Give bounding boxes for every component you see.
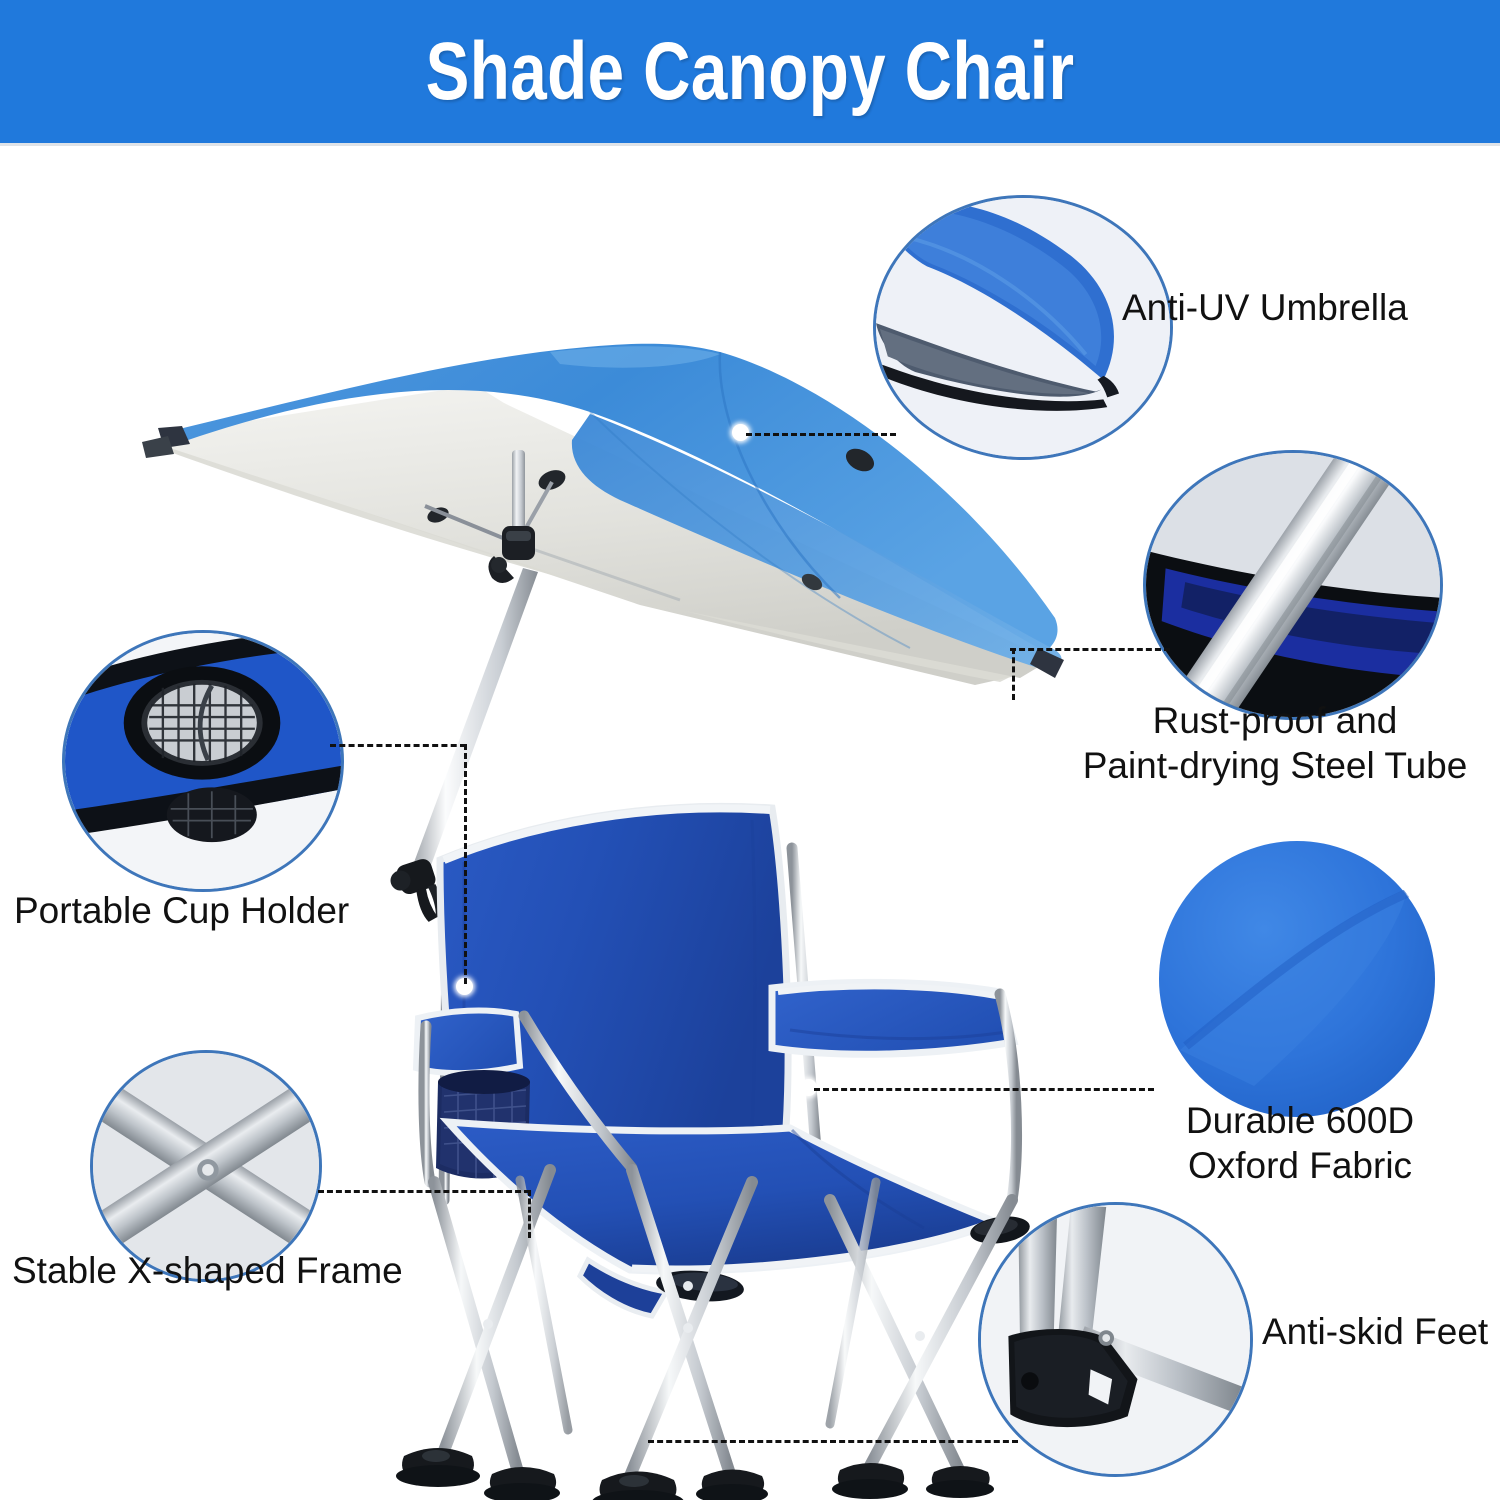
callout-photo-oxford-fabric <box>1158 840 1436 1118</box>
connector-anti-uv <box>746 433 896 436</box>
connector-cup-holder-v <box>464 744 467 984</box>
infographic-page: Shade Canopy Chair <box>0 0 1500 1500</box>
connector-steel-tube-h <box>1010 648 1170 651</box>
callout-photo-cup-holder <box>62 630 344 892</box>
connector-anti-skid-feet <box>648 1440 1018 1443</box>
left-armrest <box>416 1011 520 1074</box>
anti-skid-foot-closeup-photo <box>981 1205 1250 1474</box>
mesh-cup-holder-closeup-photo <box>65 633 341 889</box>
connector-x-frame-v <box>528 1190 531 1238</box>
connector-steel-tube-v <box>1012 648 1015 700</box>
page-title: Shade Canopy Chair <box>150 0 1350 143</box>
steel-tube-closeup-photo <box>1146 453 1440 717</box>
callout-label-anti-skid-feet: Anti-skid Feet <box>1262 1309 1500 1354</box>
anti-skid-feet <box>396 1448 994 1500</box>
connector-x-frame-h <box>318 1190 530 1193</box>
connector-cup-holder-h <box>330 744 466 747</box>
blue-oxford-fabric-swatch-photo <box>1158 840 1436 1118</box>
callout-label-steel-tube: Rust-proof andPaint-drying Steel Tube <box>1050 698 1500 788</box>
x-frame-crossbar-closeup-photo <box>93 1053 319 1279</box>
banner-divider <box>0 143 1500 146</box>
callout-photo-steel-tube <box>1143 450 1443 720</box>
callout-label-oxford-fabric: Durable 600DOxford Fabric <box>1100 1098 1500 1188</box>
folding-chair <box>400 730 1060 1500</box>
callout-label-anti-uv-umbrella: Anti-UV Umbrella <box>1122 285 1500 330</box>
callout-label-x-frame: Stable X-shaped Frame <box>12 1248 482 1293</box>
callout-photo-anti-skid-feet <box>978 1202 1253 1477</box>
connector-oxford-fabric <box>814 1088 1154 1091</box>
callout-label-cup-holder: Portable Cup Holder <box>14 888 434 933</box>
